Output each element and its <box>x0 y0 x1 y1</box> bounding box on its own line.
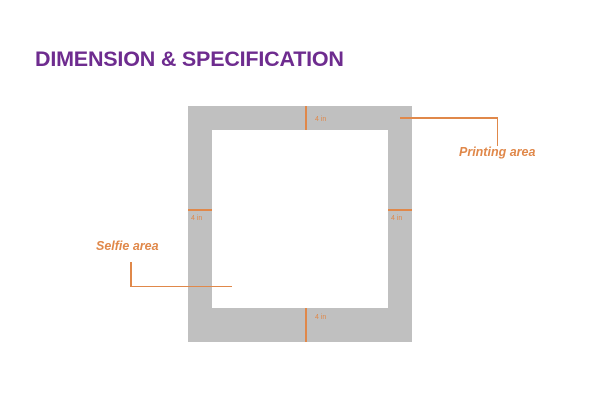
printing-area-leader-horizontal <box>400 117 498 119</box>
dimension-label-right: 4 in <box>391 215 402 222</box>
dimension-tick-top <box>305 106 307 130</box>
page-title: DIMENSION & SPECIFICATION <box>35 47 344 72</box>
dimension-tick-right <box>388 209 412 211</box>
selfie-area-opening <box>212 130 388 308</box>
slide-canvas: DIMENSION & SPECIFICATION 4 in 4 in 4 in… <box>0 0 600 400</box>
selfie-area-leader-vertical <box>130 262 132 287</box>
printing-area-leader-vertical <box>497 117 499 146</box>
selfie-area-leader-horizontal <box>130 286 232 288</box>
dimension-label-bottom: 4 in <box>315 314 326 321</box>
dimension-tick-left <box>188 209 212 211</box>
selfie-area-label: Selfie area <box>96 239 159 253</box>
dimension-label-left: 4 in <box>191 215 202 222</box>
dimension-label-top: 4 in <box>315 116 326 123</box>
printing-area-label: Printing area <box>459 145 535 159</box>
dimension-tick-bottom <box>305 308 307 342</box>
